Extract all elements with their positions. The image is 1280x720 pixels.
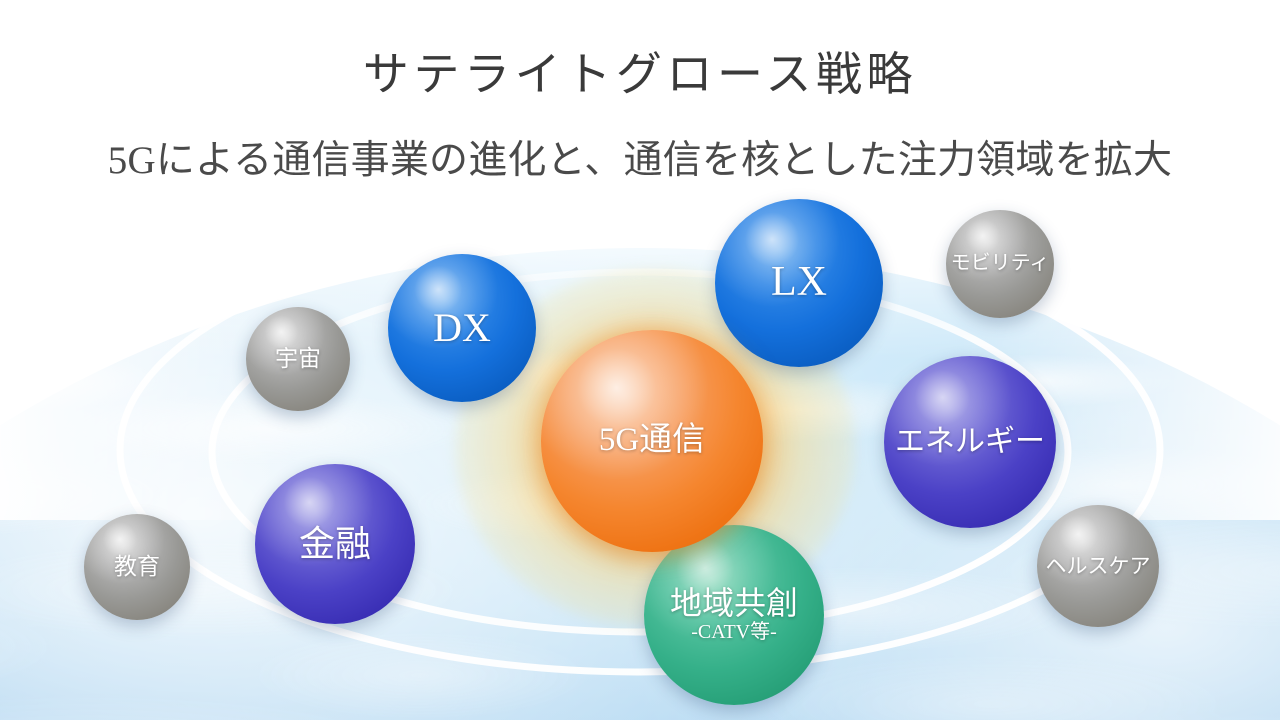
sphere-label-mobility: モビリティ	[951, 253, 1050, 275]
sphere-label-core-5g: 5G通信	[599, 423, 705, 459]
sphere-kyoiku[interactable]: 教育	[84, 514, 190, 620]
sphere-uchu[interactable]: 宇宙	[246, 307, 350, 411]
sphere-label-kyoiku: 教育	[114, 555, 160, 580]
sphere-label-chiiki: 地域共創	[670, 586, 798, 621]
sphere-sublabel-chiiki: -CATV等-	[691, 622, 777, 644]
sphere-label-dx: DX	[433, 306, 491, 349]
page-subtitle: 5Gによる通信事業の進化と、通信を核とした注力領域を拡大	[0, 129, 1280, 185]
sphere-label-lx: LX	[771, 260, 827, 305]
sphere-core-5g[interactable]: 5G通信	[541, 330, 763, 552]
sphere-energy[interactable]: エネルギー	[884, 356, 1056, 528]
sphere-chiiki[interactable]: 地域共創 -CATV等-	[644, 525, 824, 705]
sphere-lx[interactable]: LX	[715, 199, 883, 367]
page-title: サテライトグロース戦略	[0, 38, 1280, 104]
sphere-label-uchu: 宇宙	[275, 347, 321, 372]
sphere-dx[interactable]: DX	[388, 254, 536, 402]
sphere-label-kinyu: 金融	[299, 525, 371, 564]
sphere-kinyu[interactable]: 金融	[255, 464, 415, 624]
sphere-label-healthcare: ヘルスケア	[1046, 555, 1151, 578]
sphere-healthcare[interactable]: ヘルスケア	[1037, 505, 1159, 627]
sphere-mobility[interactable]: モビリティ	[946, 210, 1054, 318]
slide-root: 宇宙 教育 モビリティ ヘルスケア DX LX 金融 エネルギー 地域共創 -C…	[0, 0, 1280, 720]
sphere-label-energy: エネルギー	[895, 426, 1045, 458]
